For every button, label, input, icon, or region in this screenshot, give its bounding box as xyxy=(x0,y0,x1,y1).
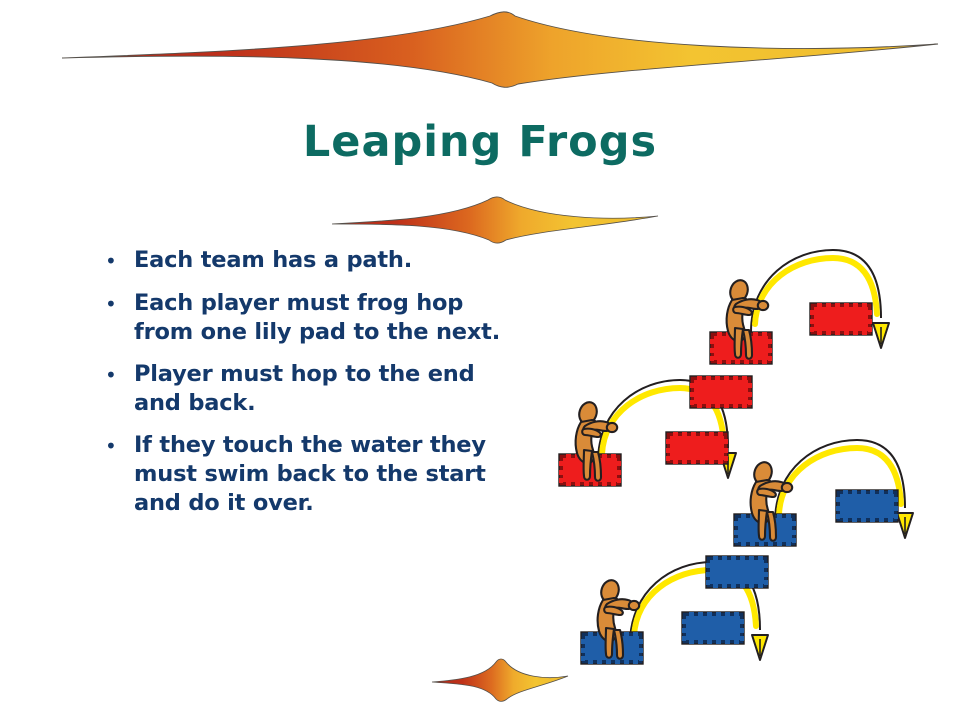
bullet-text-3: Player must hop to the end and back. xyxy=(134,360,520,418)
bullet-list: • Each team has a path. • Each player mu… xyxy=(100,246,520,531)
lily-pad-blue-4 xyxy=(706,556,768,588)
bullet-item-3: • Player must hop to the end and back. xyxy=(100,360,520,418)
bullet-marker-icon: • xyxy=(100,360,134,390)
lily-pad-red-5 xyxy=(666,432,728,464)
lane-2-red xyxy=(559,376,752,486)
lily-pad-blue-2 xyxy=(836,490,898,522)
page-title: Leaping Frogs xyxy=(0,120,960,165)
bullet-text-2: Each player must frog hop from one lily … xyxy=(134,289,520,347)
lily-pad-blue-5 xyxy=(682,612,744,644)
lane-1-red xyxy=(710,250,889,364)
lane-4-blue xyxy=(581,556,768,664)
lily-pad-red-4 xyxy=(690,376,752,408)
top-ornament-decoration xyxy=(60,8,940,88)
leaping-frogs-illustration xyxy=(548,226,960,678)
bullet-marker-icon: • xyxy=(100,246,134,276)
lane-3-blue xyxy=(734,440,913,546)
bullet-item-2: • Each player must frog hop from one lil… xyxy=(100,289,520,347)
bullet-item-4: • If they touch the water they must swim… xyxy=(100,431,520,518)
bullet-text-4: If they touch the water they must swim b… xyxy=(134,431,520,518)
bullet-marker-icon: • xyxy=(100,289,134,319)
bullet-marker-icon: • xyxy=(100,431,134,461)
slide-canvas: Leaping Frogs • Each team has a path. xyxy=(0,0,960,720)
lily-pad-red-2 xyxy=(810,303,872,335)
bullet-text-1: Each team has a path. xyxy=(134,246,520,275)
bullet-item-1: • Each team has a path. xyxy=(100,246,520,276)
bottom-ornament-decoration xyxy=(430,658,570,702)
